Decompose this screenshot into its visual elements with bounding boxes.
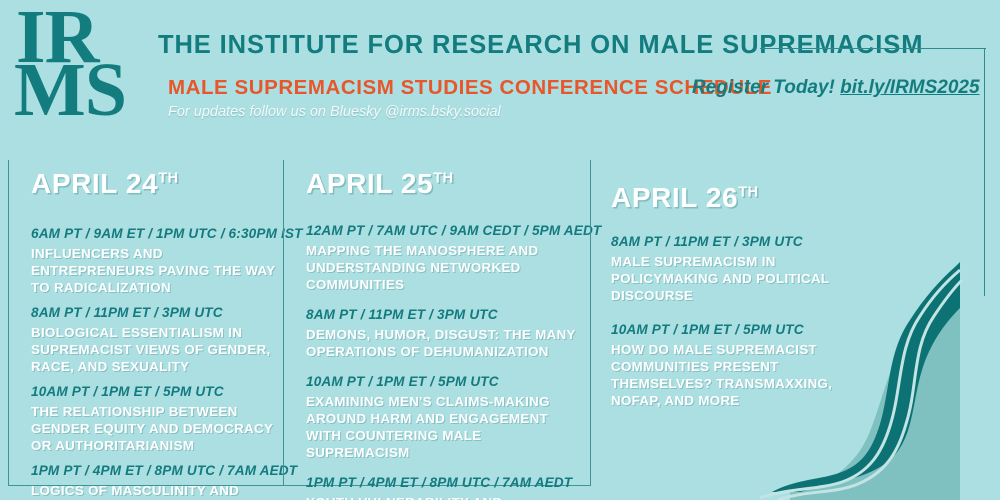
session-time: 8AM PT / 11PM ET / 3PM UTC xyxy=(611,234,890,249)
day-heading-ordinal: TH xyxy=(738,185,758,201)
session-time: 1PM PT / 4PM ET / 8PM UTC / 7AM AEDT xyxy=(31,463,283,478)
session-time: 10AM PT / 1PM ET / 5PM UTC xyxy=(611,322,890,337)
session-item[interactable]: 6AM PT / 9AM ET / 1PM UTC / 6:30PM IST I… xyxy=(31,226,283,296)
logo-line-2: MS xyxy=(14,61,146,120)
session-title: DEMONS, HUMOR, DISGUST: THE MANY OPERATI… xyxy=(306,326,582,360)
session-title: MAPPING THE MANOSPHERE AND UNDERSTANDING… xyxy=(306,242,582,293)
conference-schedule-poster: IR MS THE INSTITUTE FOR RESEARCH ON MALE… xyxy=(0,0,1000,500)
day-column-april-24: APRIL 24TH 6AM PT / 9AM ET / 1PM UTC / 6… xyxy=(8,160,283,486)
session-item[interactable]: 10AM PT / 1PM ET / 5PM UTC HOW DO MALE S… xyxy=(611,322,890,409)
session-item[interactable]: 10AM PT / 1PM ET / 5PM UTC THE RELATIONS… xyxy=(31,384,283,454)
session-item[interactable]: 8AM PT / 11PM ET / 3PM UTC BIOLOGICAL ES… xyxy=(31,305,283,375)
register-prefix-text: Register Today! xyxy=(692,77,840,98)
day-heading-text: APRIL 24 xyxy=(31,168,158,199)
session-title: BIOLOGICAL ESSENTIALISM IN SUPREMACIST V… xyxy=(31,324,283,375)
day-heading-april-25: APRIL 25TH xyxy=(306,168,590,200)
day-heading-april-24: APRIL 24TH xyxy=(31,168,283,200)
day-heading-ordinal: TH xyxy=(433,171,453,187)
organization-title: THE INSTITUTE FOR RESEARCH ON MALE SUPRE… xyxy=(158,31,923,60)
conference-title: MALE SUPREMACISM STUDIES CONFERENCE SCHE… xyxy=(168,76,772,100)
session-item[interactable]: 12AM PT / 7AM UTC / 9AM CEDT / 5PM AEDT … xyxy=(306,223,590,293)
day-column-april-26: APRIL 26TH 8AM PT / 11PM ET / 3PM UTC MA… xyxy=(590,160,890,486)
schedule-columns: APRIL 24TH 6AM PT / 9AM ET / 1PM UTC / 6… xyxy=(0,160,1000,500)
session-title: THE RELATIONSHIP BETWEEN GENDER EQUITY A… xyxy=(31,403,283,454)
session-item[interactable]: 1PM PT / 4PM ET / 8PM UTC / 7AM AEDT YOU… xyxy=(306,475,590,500)
session-item[interactable]: 10AM PT / 1PM ET / 5PM UTC EXAMINING MEN… xyxy=(306,374,590,461)
session-time: 12AM PT / 7AM UTC / 9AM CEDT / 5PM AEDT xyxy=(306,223,590,238)
day-column-april-25: APRIL 25TH 12AM PT / 7AM UTC / 9AM CEDT … xyxy=(283,160,590,486)
session-title: LOGICS OF MASCULINITY AND VIOLENCE xyxy=(31,482,283,500)
session-title: INFLUENCERS AND ENTREPRENEURS PAVING THE… xyxy=(31,245,283,296)
bluesky-note: For updates follow us on Bluesky @irms.b… xyxy=(168,104,501,120)
session-time: 6AM PT / 9AM ET / 1PM UTC / 6:30PM IST xyxy=(31,226,283,241)
day-heading-text: APRIL 25 xyxy=(306,168,433,199)
header-horizontal-rule xyxy=(760,48,986,49)
session-time: 1PM PT / 4PM ET / 8PM UTC / 7AM AEDT xyxy=(306,475,590,490)
session-title: MALE SUPREMACISM IN POLICYMAKING AND POL… xyxy=(611,253,863,304)
session-title: YOUTH VULNERABILITY AND RESPONSES xyxy=(306,494,582,500)
irms-logo: IR MS xyxy=(14,8,146,134)
session-item[interactable]: 8AM PT / 11PM ET / 3PM UTC DEMONS, HUMOR… xyxy=(306,307,590,360)
session-title: EXAMINING MEN'S CLAIMS-MAKING AROUND HAR… xyxy=(306,393,582,461)
session-time: 8AM PT / 11PM ET / 3PM UTC xyxy=(306,307,590,322)
session-item[interactable]: 1PM PT / 4PM ET / 8PM UTC / 7AM AEDT LOG… xyxy=(31,463,283,500)
day-heading-april-26: APRIL 26TH xyxy=(611,182,890,214)
session-title: HOW DO MALE SUPREMACIST COMMUNITIES PRES… xyxy=(611,341,863,409)
day-heading-ordinal: TH xyxy=(158,171,178,187)
session-item[interactable]: 8AM PT / 11PM ET / 3PM UTC MALE SUPREMAC… xyxy=(611,234,890,304)
session-time: 8AM PT / 11PM ET / 3PM UTC xyxy=(31,305,283,320)
day-heading-text: APRIL 26 xyxy=(611,182,738,213)
register-link[interactable]: bit.ly/IRMS2025 xyxy=(840,77,979,98)
session-time: 10AM PT / 1PM ET / 5PM UTC xyxy=(31,384,283,399)
register-callout: Register Today! bit.ly/IRMS2025 xyxy=(692,77,980,99)
session-time: 10AM PT / 1PM ET / 5PM UTC xyxy=(306,374,590,389)
